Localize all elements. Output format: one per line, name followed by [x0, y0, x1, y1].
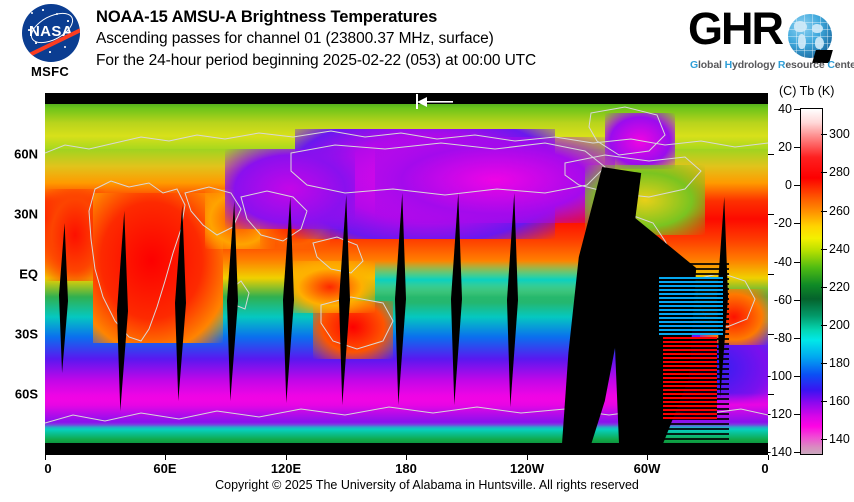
colorbar-header: (C) Tb (K)	[779, 84, 834, 98]
nodata-strip-bottom	[45, 443, 768, 455]
y-tick-label: 60N	[0, 147, 38, 162]
brightness-temperature-map[interactable]	[45, 93, 768, 455]
x-tick-label: 0	[761, 461, 768, 476]
colorbar-unit-celsius: (C)	[779, 84, 796, 98]
title-block: NOAA-15 AMSU-A Brightness Temperatures A…	[96, 7, 536, 72]
colorbar[interactable]	[800, 108, 823, 455]
nasa-meatball-icon: NASA	[22, 4, 80, 62]
nasa-logo: NASA MSFC	[10, 4, 90, 88]
striped-hot-region	[663, 337, 717, 419]
nodata-strip-top	[45, 93, 768, 104]
colorbar-kelvin-label: 300	[829, 127, 850, 141]
x-tick-label: 0	[44, 461, 51, 476]
y-tick-label: 30S	[0, 327, 38, 342]
page-subtitle: Ascending passes for channel 01 (23800.3…	[96, 28, 536, 50]
colorbar-unit-tb: Tb	[800, 84, 815, 98]
colorbar-kelvin-label: 260	[829, 204, 850, 218]
colorbar-unit-kelvin: (K)	[818, 84, 835, 98]
copyright-text: Copyright © 2025 The University of Alaba…	[0, 478, 854, 492]
y-tick-label: 60S	[0, 387, 38, 402]
y-tick-label: EQ	[0, 267, 38, 282]
x-tick-label: 120E	[271, 461, 301, 476]
ghrc-wordmark: GHR	[688, 6, 782, 51]
ghrc-tagline: Global Hydrology Resource Center	[690, 59, 854, 71]
colorbar-kelvin-label: 280	[829, 165, 850, 179]
colorbar-kelvin-label: 180	[829, 356, 850, 370]
left-arrow-cursor-icon	[411, 93, 455, 111]
page-period: For the 24-hour period beginning 2025-02…	[96, 50, 536, 72]
y-tick-label: 30N	[0, 207, 38, 222]
colorbar-kelvin-label: 160	[829, 394, 850, 408]
x-tick-label: 60E	[153, 461, 176, 476]
header: NASA MSFC NOAA-15 AMSU-A Brightness Temp…	[0, 0, 854, 90]
colorbar-kelvin-label: 240	[829, 242, 850, 256]
ghrc-logo: GHR Global Hydrology Resource Center	[688, 6, 838, 78]
x-tick-label: 120W	[510, 461, 544, 476]
colorbar-kelvin-label: 140	[829, 432, 850, 446]
msfc-label: MSFC	[10, 64, 90, 79]
colorbar-gradient	[801, 109, 822, 454]
page-title: NOAA-15 AMSU-A Brightness Temperatures	[96, 7, 536, 28]
x-tick-label: 180	[395, 461, 417, 476]
x-tick-label: 60W	[634, 461, 661, 476]
colorbar-kelvin-label: 220	[829, 280, 850, 294]
colorbar-kelvin-label: 200	[829, 318, 850, 332]
map-plot[interactable]	[45, 93, 768, 455]
striped-cold-region	[659, 277, 723, 335]
